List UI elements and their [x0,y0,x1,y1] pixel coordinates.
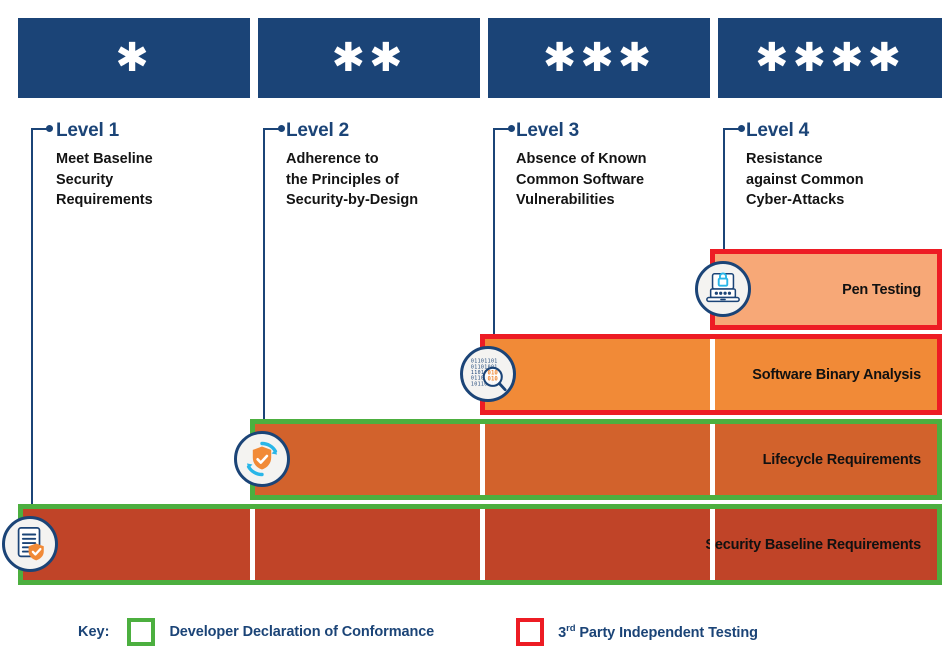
connector-dot-1 [46,125,53,132]
legend-item-developer-declaration: Developer Declaration of Conformance [127,618,434,646]
laptop-lock-icon-badge[interactable] [695,261,751,317]
star-rating-1: ✱ [115,38,153,78]
legend-label-third-party-testing: 3rd Party Independent Testing [558,623,758,641]
bar-security-baseline-requirements[interactable]: Security Baseline Requirements [18,504,942,585]
connector-line-1 [31,128,33,543]
star-rating-4: ✱✱✱✱ [755,38,905,78]
bar-lifecycle-requirements-label: Lifecycle Requirements [763,452,937,468]
bar-pen-testing-label: Pen Testing [842,282,937,298]
bar-divider [250,509,255,580]
document-shield-check-icon [11,525,49,563]
bar-software-binary-analysis-label: Software Binary Analysis [752,367,937,383]
bar-divider [710,339,715,410]
svg-text:010: 010 [488,370,499,376]
cycle-shield-check-icon-badge[interactable] [234,431,290,487]
connector-dot-2 [278,125,285,132]
header-panel-level-2: ✱✱ [258,18,480,98]
level-1-title: Level 1 [56,120,241,142]
legend-label-developer-declaration: Developer Declaration of Conformance [169,624,434,640]
bar-divider [480,424,485,495]
bar-divider [480,509,485,580]
level-2-title: Level 2 [286,120,476,142]
level-3-title: Level 3 [516,120,706,142]
level-caption-1: Level 1 Meet Baseline Security Requireme… [56,120,241,211]
level-caption-3: Level 3 Absence of Known Common Software… [516,120,706,211]
legend-key-label: Key: [78,624,109,640]
legend-swatch-green [127,618,155,646]
capability-maturity-diagram: ✱ ✱✱ ✱✱✱ ✱✱✱✱ Level 1 Meet Baseline Secu… [0,0,950,654]
legend-swatch-red [516,618,544,646]
level-2-description: Adherence to the Principles of Security-… [286,149,476,211]
document-shield-check-icon-badge[interactable] [2,516,58,572]
cycle-shield-check-icon [242,439,282,479]
legend: Key: Developer Declaration of Conformanc… [78,618,758,646]
laptop-lock-icon [704,270,742,308]
binary-magnifier-icon: 01101101 01101001 11010110 01100101 1011… [468,355,508,393]
connector-line-2 [263,128,265,461]
legend-label-prefix: 3 [558,625,566,641]
bar-security-baseline-requirements-label: Security Baseline Requirements [705,537,937,553]
connector-dot-4 [738,125,745,132]
level-caption-4: Level 4 Resistance against Common Cyber-… [746,120,942,211]
header-panel-level-3: ✱✱✱ [488,18,710,98]
binary-magnifier-icon-badge[interactable]: 01101101 01101001 11010110 01100101 1011… [460,346,516,402]
bar-divider [710,509,715,580]
legend-item-third-party-testing: 3rd Party Independent Testing [516,618,758,646]
bar-divider [710,424,715,495]
bar-lifecycle-requirements[interactable]: Lifecycle Requirements [250,419,942,500]
level-4-title: Level 4 [746,120,942,142]
level-caption-2: Level 2 Adherence to the Principles of S… [286,120,476,211]
level-4-description: Resistance against Common Cyber-Attacks [746,149,942,211]
bar-lifecycle-requirements-fill: Lifecycle Requirements [255,424,937,495]
header-panel-level-1: ✱ [18,18,250,98]
star-rating-3: ✱✱✱ [543,38,656,78]
svg-text:010: 010 [488,377,499,383]
level-3-description: Absence of Known Common Software Vulnera… [516,149,706,211]
star-rating-2: ✱✱ [331,38,406,78]
bar-software-binary-analysis[interactable]: Software Binary Analysis [480,334,942,415]
level-1-description: Meet Baseline Security Requirements [56,149,241,211]
header-panel-level-4: ✱✱✱✱ [718,18,942,98]
legend-label-rest: Party Independent Testing [575,625,757,641]
bar-software-binary-analysis-fill: Software Binary Analysis [485,339,937,410]
bar-security-baseline-requirements-fill: Security Baseline Requirements [23,509,937,580]
connector-dot-3 [508,125,515,132]
